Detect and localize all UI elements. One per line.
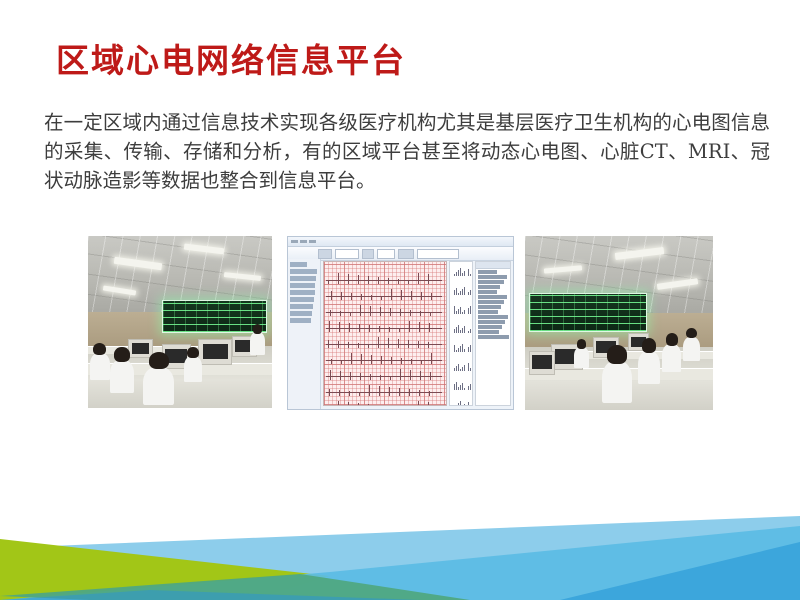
page-title: 区域心电网络信息平台 bbox=[56, 34, 406, 82]
staff-person bbox=[683, 337, 700, 361]
staff-person bbox=[638, 351, 661, 384]
app-body bbox=[288, 259, 513, 409]
case-tree-row[interactable] bbox=[290, 311, 312, 316]
monitor bbox=[529, 351, 555, 376]
toolbar-field[interactable] bbox=[417, 249, 459, 259]
ecg-thumbnail[interactable] bbox=[468, 304, 473, 316]
ecg-lead-trace bbox=[324, 366, 446, 380]
record-list-row[interactable] bbox=[478, 320, 505, 324]
record-list-row[interactable] bbox=[478, 290, 497, 294]
ecg-thumbnail[interactable] bbox=[454, 323, 466, 335]
room-scene bbox=[525, 236, 713, 410]
record-list-row[interactable] bbox=[478, 305, 501, 309]
case-tree-row[interactable] bbox=[290, 283, 315, 288]
ecg-waveform-chart bbox=[323, 261, 447, 406]
record-list-row[interactable] bbox=[478, 310, 498, 314]
record-list-row[interactable] bbox=[478, 300, 504, 304]
case-tree-row[interactable] bbox=[290, 290, 315, 295]
ecg-lead-trace bbox=[324, 398, 446, 406]
record-list-row[interactable] bbox=[478, 325, 502, 329]
toolbar-button[interactable] bbox=[362, 249, 374, 259]
ecg-thumbnail-panel[interactable] bbox=[449, 261, 473, 406]
ecg-lead-trace bbox=[324, 350, 446, 364]
case-tree-row[interactable] bbox=[290, 269, 317, 274]
case-tree-row[interactable] bbox=[290, 276, 316, 281]
ecg-lead-trace bbox=[324, 286, 446, 300]
record-list-row[interactable] bbox=[478, 285, 500, 289]
picture-row bbox=[0, 236, 800, 412]
ecg-thumbnail[interactable] bbox=[454, 399, 466, 406]
staff-person bbox=[143, 367, 174, 405]
ecg-thumbnail[interactable] bbox=[468, 399, 473, 406]
app-title-bar bbox=[288, 237, 513, 247]
ecg-lead-trace bbox=[324, 334, 446, 348]
footer-decoration bbox=[0, 512, 800, 600]
ecg-thumbnail[interactable] bbox=[468, 323, 473, 335]
toolbar-field[interactable] bbox=[377, 249, 395, 259]
record-list-header bbox=[476, 262, 510, 269]
record-list-row[interactable] bbox=[478, 280, 504, 284]
ecg-thumbnail[interactable] bbox=[468, 285, 473, 297]
ecg-thumbnail[interactable] bbox=[454, 342, 466, 354]
record-list-row[interactable] bbox=[478, 275, 507, 279]
ecg-thumbnail[interactable] bbox=[454, 380, 466, 392]
ecg-software-screenshot bbox=[287, 236, 514, 410]
title-bar-control bbox=[309, 240, 316, 243]
toolbar-button[interactable] bbox=[318, 249, 332, 259]
staff-person bbox=[662, 344, 681, 372]
ecg-video-wall bbox=[162, 300, 267, 333]
staff-person bbox=[184, 356, 202, 382]
ecg-thumbnail[interactable] bbox=[454, 285, 466, 297]
record-list-row[interactable] bbox=[478, 335, 509, 339]
ecg-thumbnail[interactable] bbox=[468, 380, 473, 392]
toolbar-field[interactable] bbox=[335, 249, 359, 259]
case-tree-panel[interactable] bbox=[288, 259, 321, 409]
body-paragraph: 在一定区域内通过信息技术实现各级医疗机构尤其是基层医疗卫生机构的心电图信息的采集… bbox=[44, 108, 770, 195]
ecg-monitoring-center-photo-right bbox=[525, 236, 713, 410]
ecg-thumbnail[interactable] bbox=[454, 304, 466, 316]
ecg-thumbnail[interactable] bbox=[468, 361, 473, 373]
ecg-monitoring-center-photo-left bbox=[88, 236, 272, 408]
staff-person bbox=[90, 353, 110, 381]
staff-person bbox=[602, 361, 632, 403]
ecg-thumbnail[interactable] bbox=[454, 266, 466, 278]
record-list-row[interactable] bbox=[478, 330, 499, 334]
record-list-row[interactable] bbox=[478, 295, 507, 299]
ecg-video-wall bbox=[529, 293, 648, 332]
title-bar-control bbox=[291, 240, 298, 243]
slide: 区域心电网络信息平台 在一定区域内通过信息技术实现各级医疗机构尤其是基层医疗卫生… bbox=[0, 0, 800, 600]
ecg-thumbnail[interactable] bbox=[454, 361, 466, 373]
ecg-thumbnail[interactable] bbox=[468, 266, 473, 278]
record-list-row[interactable] bbox=[478, 270, 497, 274]
case-tree-row[interactable] bbox=[290, 297, 314, 302]
staff-person bbox=[250, 332, 265, 354]
ecg-lead-trace bbox=[324, 302, 446, 316]
staff-person bbox=[110, 360, 134, 393]
ecg-lead-trace bbox=[324, 318, 446, 332]
monitor bbox=[198, 339, 231, 365]
record-list-panel[interactable] bbox=[475, 261, 511, 406]
staff-person bbox=[574, 347, 589, 368]
title-bar-control bbox=[300, 240, 307, 243]
monitor bbox=[128, 339, 152, 358]
ecg-lead-trace bbox=[324, 382, 446, 396]
case-tree-row[interactable] bbox=[290, 262, 307, 267]
ecg-lead-trace bbox=[324, 270, 446, 284]
case-tree-row[interactable] bbox=[290, 304, 313, 309]
record-list-row[interactable] bbox=[478, 315, 508, 319]
toolbar-button[interactable] bbox=[398, 249, 414, 259]
ecg-thumbnail[interactable] bbox=[468, 342, 473, 354]
case-tree-row[interactable] bbox=[290, 318, 311, 323]
room-scene bbox=[88, 236, 272, 408]
